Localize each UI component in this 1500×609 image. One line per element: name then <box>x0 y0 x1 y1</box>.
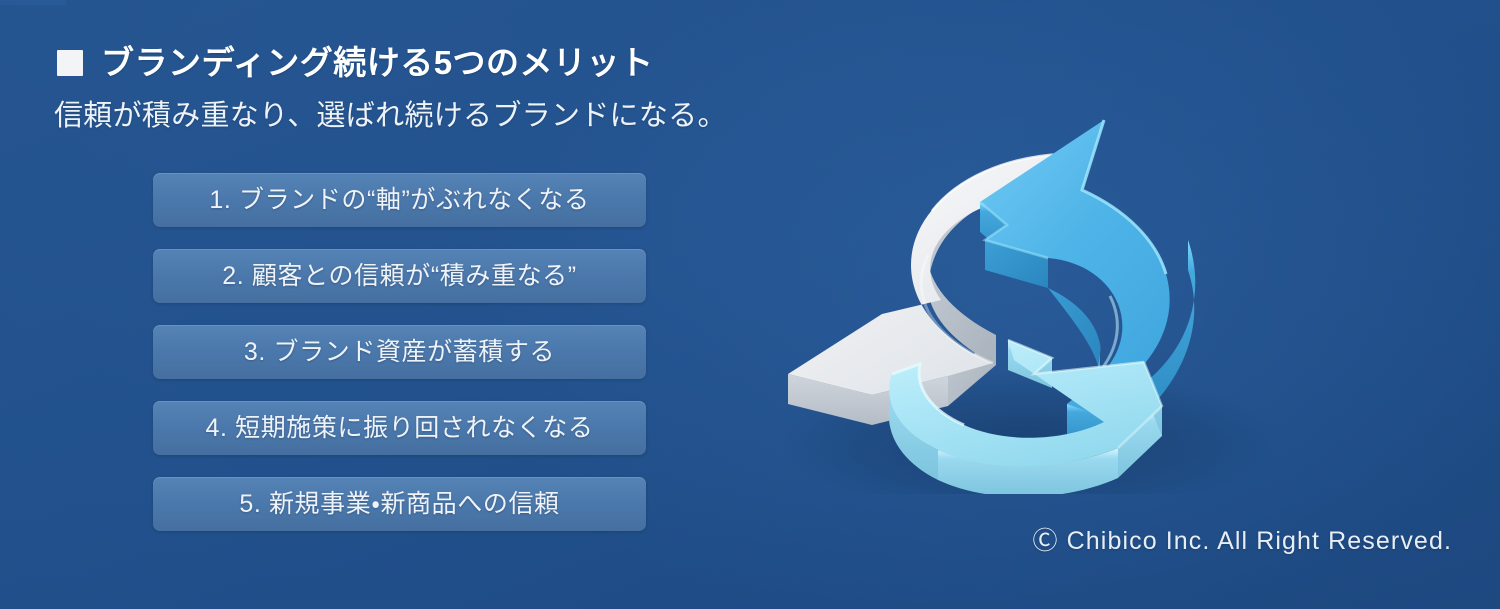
merit-item-label: 4. 短期施策に振り回されなくなる <box>206 416 594 441</box>
merit-item-4: 4. 短期施策に振り回されなくなる <box>153 401 646 455</box>
merit-item-5: 5. 新規事業・新商品への信頼 <box>153 477 646 531</box>
slide-root: ブランディング続ける5つのメリット 信頼が積み重なり、選ばれ続けるブランドになる… <box>0 0 1500 609</box>
page-subtitle: 信頼が積み重なり、選ばれ続けるブランドになる。 <box>54 98 727 134</box>
merit-item-label: 2. 顧客との信頼が“積み重なる” <box>222 264 576 289</box>
page-title-row: ブランディング続ける5つのメリット <box>57 46 654 79</box>
left-content-column: ブランディング続ける5つのメリット 信頼が積み重なり、選ばれ続けるブランドになる… <box>0 0 720 609</box>
page-title: ブランディング続ける5つのメリット <box>101 46 654 79</box>
filled-square-icon <box>57 50 83 76</box>
merit-item-label: 3. ブランド資産が蓄積する <box>244 340 555 365</box>
merit-item-3: 3. ブランド資産が蓄積する <box>153 325 646 379</box>
merit-item-2: 2. 顧客との信頼が“積み重なる” <box>153 249 646 303</box>
merit-list: 1. ブランドの“軸”がぶれなくなる 2. 顧客との信頼が“積み重なる” 3. … <box>153 173 646 531</box>
merit-item-label: 5. 新規事業・新商品への信頼 <box>239 492 559 517</box>
merit-item-label: 1. ブランドの“軸”がぶれなくなる <box>209 188 589 213</box>
three-arrow-cycle-icon <box>752 112 1298 494</box>
copyright-text: Ⓒ Chibico Inc. All Right Reserved. <box>1032 521 1452 557</box>
merit-item-1: 1. ブランドの“軸”がぶれなくなる <box>153 173 646 227</box>
